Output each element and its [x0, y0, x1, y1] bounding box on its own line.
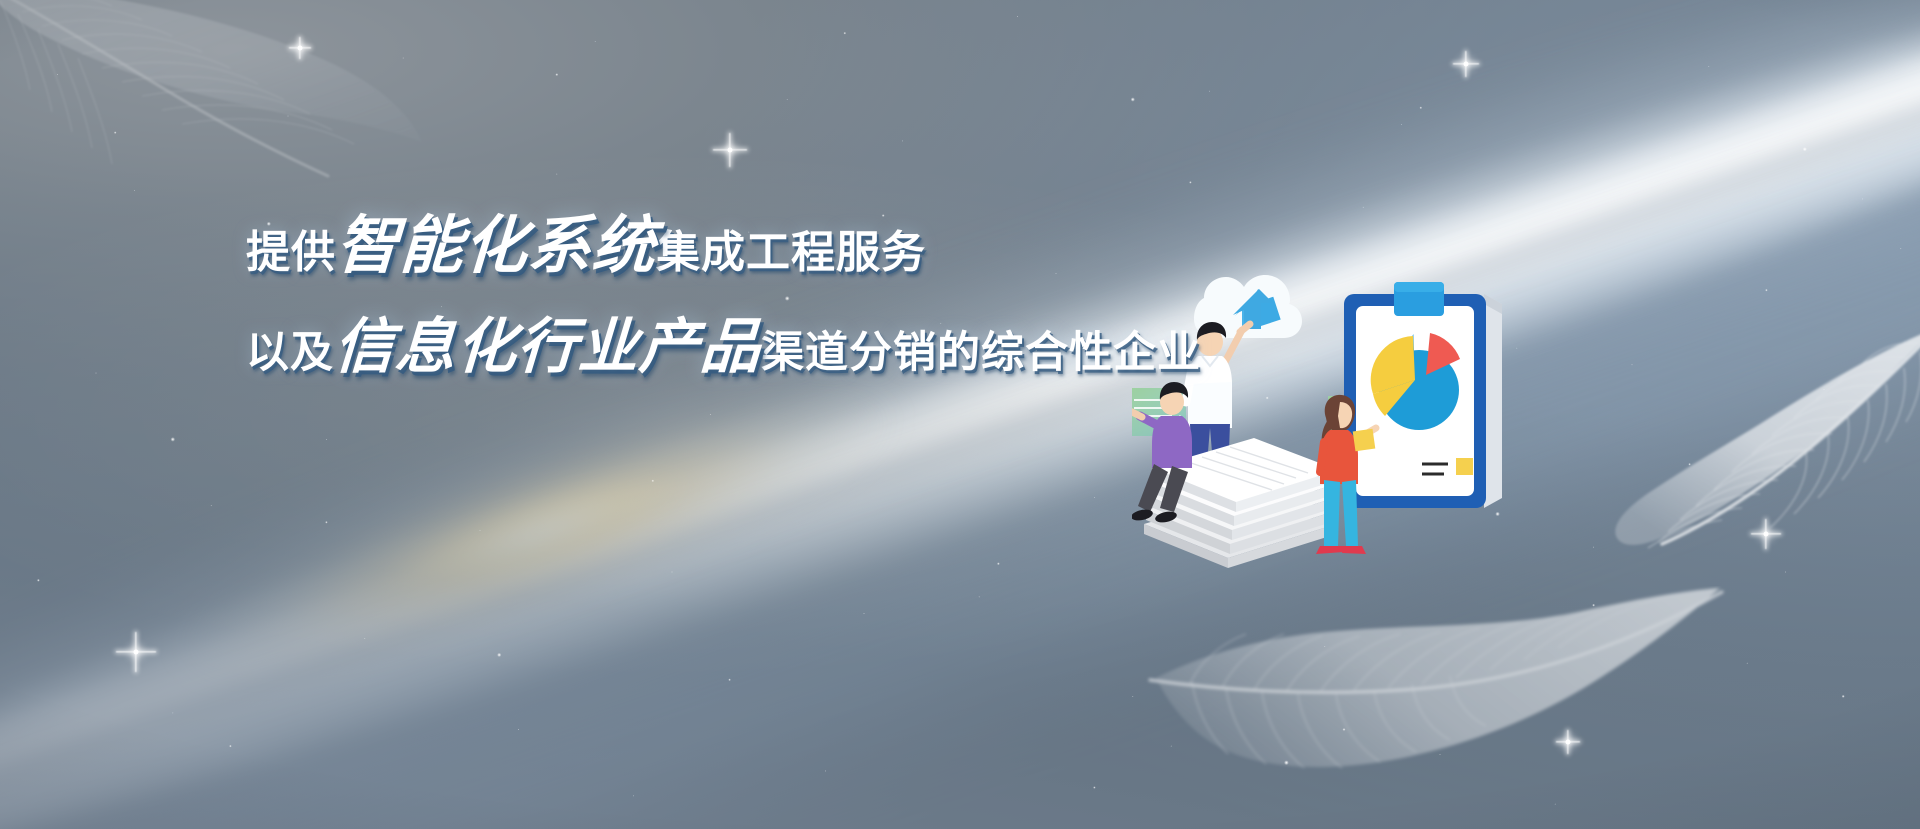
clipboard	[1344, 282, 1502, 508]
headline-line2-prefix: 以及	[246, 332, 334, 375]
headline-line2-emphasis: 信息化行业产品	[332, 317, 762, 377]
headline-line1-emphasis: 智能化系统	[334, 214, 657, 277]
headline-line2-suffix: 渠道分销的综合性企业	[761, 332, 1201, 375]
headline-line-1: 提供智能化系统集成工程服务	[246, 214, 1306, 277]
sticky-note	[1456, 458, 1473, 475]
sky-vignette	[0, 0, 1920, 829]
hero-banner: 提供智能化系统集成工程服务 以及信息化行业产品渠道分销的综合性企业	[0, 0, 1920, 829]
headline-line-2: 以及信息化行业产品渠道分销的综合性企业	[246, 317, 1306, 377]
headline-line1-prefix: 提供	[246, 231, 336, 275]
headline-block: 提供智能化系统集成工程服务 以及信息化行业产品渠道分销的综合性企业	[246, 214, 1306, 377]
headline-line1-suffix: 集成工程服务	[656, 231, 926, 275]
